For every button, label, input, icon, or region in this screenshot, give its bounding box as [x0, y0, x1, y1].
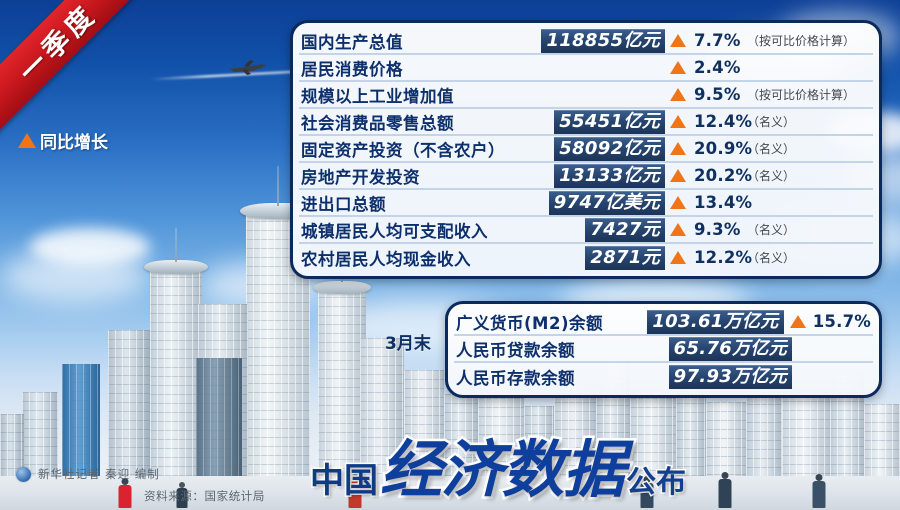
- row-label: 农村居民人均现金收入: [301, 246, 471, 270]
- row-label-cell: 进出口总额: [301, 191, 537, 215]
- value-chip: 7427元: [585, 218, 665, 242]
- trend-cell: [665, 61, 691, 74]
- row-value-cell: 65.76万亿元: [624, 337, 792, 361]
- row-label: 固定资产投资: [301, 137, 403, 161]
- value-chip: 9747亿美元: [549, 191, 665, 215]
- trend-cell: [665, 251, 691, 264]
- row-value-cell: 2871元: [537, 246, 665, 270]
- table-row: 人民币存款余额97.93万亿元: [454, 363, 873, 390]
- value-chip: 65.76万亿元: [669, 337, 792, 361]
- percent-value: 2.4%: [691, 58, 747, 77]
- row-label-cell: 农村居民人均现金收入: [301, 246, 537, 270]
- row-label: 国内生产总值: [301, 29, 403, 53]
- table-row: 固定资产投资（不含农户）58092亿元20.9%（名义）: [299, 136, 873, 163]
- row-value-cell: 118855亿元: [537, 29, 665, 53]
- trend-cell: [665, 34, 691, 47]
- table-row: 居民消费价格2.4%: [299, 55, 873, 82]
- value-chip: 55451亿元: [554, 110, 665, 134]
- row-value-cell: 9747亿美元: [537, 191, 665, 215]
- pedestrian-silhouette: [812, 474, 826, 508]
- row-note: （名义）: [747, 249, 871, 266]
- row-label: 人民币贷款余额: [456, 337, 624, 361]
- value-chip: 97.93万亿元: [669, 365, 792, 389]
- row-label: 城镇居民人均可支配收入: [301, 218, 488, 242]
- up-triangle-icon: [670, 142, 686, 155]
- value-chip: 2871元: [585, 246, 665, 270]
- up-triangle-icon: [670, 223, 686, 236]
- percent-value: 7.7%: [691, 31, 747, 50]
- up-triangle-icon: [670, 251, 686, 264]
- quarter-ribbon: 一季度: [0, 0, 150, 135]
- row-label-cell: 国内生产总值: [301, 29, 537, 53]
- up-triangle-icon: [670, 115, 686, 128]
- trend-cell: [665, 142, 691, 155]
- percent-value: 20.2%: [691, 166, 747, 185]
- legend: 同比增长: [18, 128, 108, 153]
- value-chip: 103.61万亿元: [647, 310, 783, 334]
- infographic-canvas: 一季度 同比增长: [0, 0, 900, 510]
- row-label: 居民消费价格: [301, 56, 403, 80]
- table-row: 城镇居民人均可支配收入7427元9.3%（名义）: [299, 217, 873, 244]
- table-row: 规模以上工业增加值9.5%（按可比价格计算）: [299, 82, 873, 109]
- title-prefix: 中国: [310, 465, 378, 498]
- row-value-cell: 97.93万亿元: [624, 365, 792, 389]
- row-value-cell: 58092亿元: [537, 137, 665, 161]
- trend-cell: [665, 169, 691, 182]
- quarter-ribbon-label: 一季度: [8, 0, 103, 89]
- value-chip: 13133亿元: [554, 164, 665, 188]
- table-row: 房地产开发投资13133亿元20.2%（名义）: [299, 163, 873, 190]
- trend-cell: [665, 88, 691, 101]
- title-suffix: 公布: [626, 468, 686, 498]
- headline-title: 中国 经济数据 公布: [310, 441, 686, 498]
- money-statistics-panel: 广义货币(M2)余额103.61万亿元15.7%人民币贷款余额65.76万亿元人…: [445, 301, 882, 398]
- row-label: 人民币存款余额: [456, 365, 624, 389]
- row-note: （名义）: [747, 113, 871, 130]
- source-line: 资料来源：国家统计局: [144, 488, 265, 504]
- table-row: 进出口总额9747亿美元13.4%: [299, 190, 873, 217]
- row-label: 规模以上工业增加值: [301, 83, 454, 107]
- row-label-cell: 社会消费品零售总额: [301, 110, 537, 134]
- up-triangle-icon: [790, 315, 806, 328]
- table-row: 农村居民人均现金收入2871元12.2%（名义）: [299, 244, 873, 271]
- row-value-cell: 55451亿元: [537, 110, 665, 134]
- up-triangle-icon: [670, 34, 686, 47]
- main-table-body: 国内生产总值118855亿元7.7%（按可比价格计算）居民消费价格2.4%规模以…: [299, 28, 873, 271]
- percent-value: 12.4%: [691, 112, 747, 131]
- up-triangle-icon: [18, 133, 36, 148]
- value-chip: 58092亿元: [554, 137, 665, 161]
- pedestrian-silhouette: [718, 472, 732, 508]
- trend-cell: [784, 315, 813, 328]
- row-label: 进出口总额: [301, 191, 386, 215]
- row-note: （按可比价格计算）: [747, 86, 871, 103]
- row-note: （名义）: [747, 167, 871, 184]
- jet-icon: [228, 60, 268, 76]
- row-label: 广义货币(M2)余额: [456, 310, 620, 334]
- table-row: 国内生产总值118855亿元7.7%（按可比价格计算）: [299, 28, 873, 55]
- percent-value: 12.2%: [691, 248, 747, 267]
- up-triangle-icon: [670, 61, 686, 74]
- row-value-cell: 7427元: [537, 218, 665, 242]
- table-row: 人民币贷款余额65.76万亿元: [454, 336, 873, 363]
- percent-value: 13.4%: [691, 193, 747, 212]
- percent-value: 15.7%: [813, 312, 871, 331]
- row-label-note: （不含农户）: [403, 137, 505, 161]
- percent-value: 20.9%: [691, 139, 747, 158]
- row-value-cell: 13133亿元: [537, 164, 665, 188]
- xinhua-logo-icon: [16, 467, 31, 482]
- month-label: 3月末: [385, 329, 431, 354]
- title-main: 经济数据: [380, 441, 624, 498]
- row-note: （名义）: [747, 221, 871, 238]
- row-label: 房地产开发投资: [301, 164, 420, 188]
- row-label-cell: 房地产开发投资: [301, 164, 537, 188]
- credit-line: 新华社记者 秦迎 编制: [16, 466, 160, 482]
- legend-label: 同比增长: [40, 128, 108, 153]
- value-chip: 118855亿元: [541, 29, 665, 53]
- row-label: 社会消费品零售总额: [301, 110, 454, 134]
- table-row: 社会消费品零售总额55451亿元12.4%（名义）: [299, 109, 873, 136]
- up-triangle-icon: [670, 196, 686, 209]
- trend-cell: [665, 115, 691, 128]
- main-statistics-panel: 国内生产总值118855亿元7.7%（按可比价格计算）居民消费价格2.4%规模以…: [290, 20, 882, 279]
- row-label-cell: 居民消费价格: [301, 56, 537, 80]
- money-table-body: 广义货币(M2)余额103.61万亿元15.7%人民币贷款余额65.76万亿元人…: [454, 309, 873, 390]
- pedestrian-silhouette: [118, 478, 132, 508]
- row-value-cell: 103.61万亿元: [620, 310, 784, 334]
- row-note: （名义）: [747, 140, 871, 157]
- row-label-cell: 规模以上工业增加值: [301, 83, 537, 107]
- row-label-cell: 固定资产投资（不含农户）: [301, 137, 537, 161]
- credit-text: 新华社记者 秦迎 编制: [38, 466, 160, 482]
- table-row: 广义货币(M2)余额103.61万亿元15.7%: [454, 309, 873, 336]
- up-triangle-icon: [670, 169, 686, 182]
- trend-cell: [665, 223, 691, 236]
- row-note: （按可比价格计算）: [747, 32, 871, 49]
- row-label-cell: 城镇居民人均可支配收入: [301, 218, 537, 242]
- trend-cell: [665, 196, 691, 209]
- up-triangle-icon: [670, 88, 686, 101]
- percent-value: 9.3%: [691, 220, 747, 239]
- percent-value: 9.5%: [691, 85, 747, 104]
